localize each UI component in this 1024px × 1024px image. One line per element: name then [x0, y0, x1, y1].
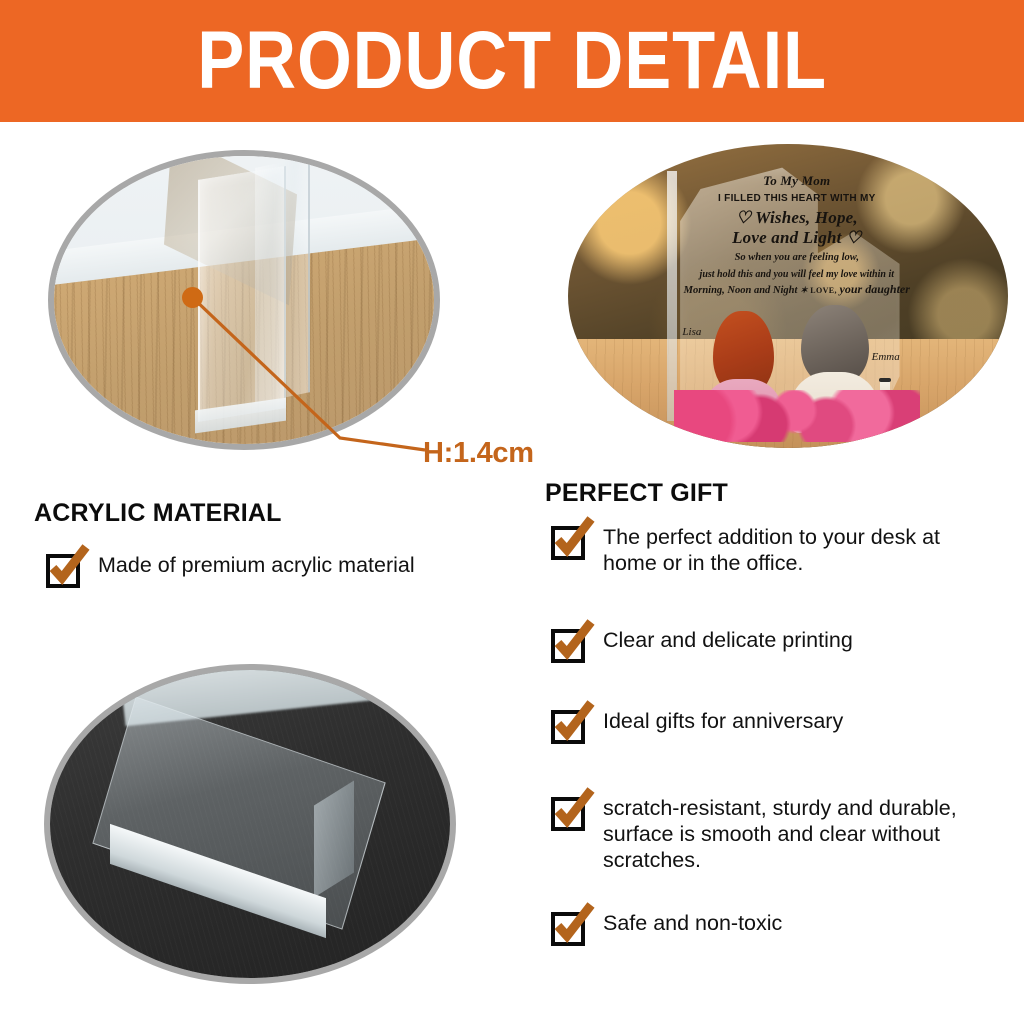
checklist-item: Made of premium acrylic material: [46, 552, 516, 588]
checkbox-checked-icon: [551, 526, 585, 560]
dimension-label-height: H:1.4cm: [423, 437, 534, 470]
section-heading-perfect-gift: PERFECT GIFT: [545, 479, 728, 508]
plaque-line-filled: I FILLED THIS HEART WITH MY: [682, 193, 911, 204]
checklist-item-label: Safe and non-toxic: [603, 910, 782, 936]
plaque-left-rim: [667, 171, 677, 420]
page-title: PRODUCT DETAIL: [197, 20, 827, 102]
checkbox-checked-icon: [551, 629, 585, 663]
checklist-item-label: Clear and delicate printing: [603, 627, 853, 653]
checklist-item: scratch-resistant, sturdy and durable, s…: [551, 795, 1001, 874]
checkmark-icon: [46, 544, 92, 590]
checkbox-checked-icon: [551, 912, 585, 946]
checkmark-icon: [551, 787, 597, 833]
plaque-line-feeling-low: So when you are feeling low,: [682, 252, 911, 264]
plaque-line-signature: Morning, Noon and Night ✶ LOVE, your dau…: [682, 283, 911, 297]
wood-floor-scene: [54, 156, 434, 444]
star-icon: ✶: [800, 285, 808, 295]
section-heading-acrylic-material: ACRYLIC MATERIAL: [34, 499, 282, 528]
checklist-item: The perfect addition to your desk at hom…: [551, 524, 991, 576]
checklist-item: Ideal gifts for anniversary: [551, 708, 991, 744]
plaque-sign-love: LOVE,: [810, 286, 837, 295]
checklist-item-label: The perfect addition to your desk at hom…: [603, 524, 991, 576]
checkmark-icon: [551, 902, 597, 948]
checkbox-checked-icon: [46, 554, 80, 588]
plaque-engraved-text: To My Mom I FILLED THIS HEART WITH MY ♡ …: [682, 174, 911, 296]
checklist-item-label: scratch-resistant, sturdy and durable, s…: [603, 795, 1001, 874]
plaque-line-love-light: Love and Light ♡: [682, 228, 911, 247]
checkmark-icon: [551, 700, 597, 746]
carnation-flowers: [674, 390, 920, 442]
bokeh-background: To My Mom I FILLED THIS HEART WITH MY ♡ …: [568, 144, 1008, 448]
acrylic-block-edge-photo: [48, 150, 440, 450]
checkmark-icon: [551, 516, 597, 562]
checkmark-icon: [551, 619, 597, 665]
checkbox-checked-icon: [551, 710, 585, 744]
acrylic-block-flat-photo: [44, 664, 456, 984]
plaque-sign-daughter: your daughter: [840, 282, 910, 296]
plaque-line-hold-this: just hold this and you will feel my love…: [682, 269, 911, 280]
checkbox-checked-icon: [551, 797, 585, 831]
product-plaque-photo: To My Mom I FILLED THIS HEART WITH MY ♡ …: [568, 144, 1008, 448]
checklist-item-label: Ideal gifts for anniversary: [603, 708, 843, 734]
plaque-name-left: Lisa: [682, 326, 701, 338]
plaque-line-wishes-hope: ♡ Wishes, Hope,: [682, 208, 911, 227]
checklist-item-label: Made of premium acrylic material: [98, 552, 415, 578]
plaque-sign-morning: Morning, Noon and Night: [684, 285, 798, 296]
checklist-item: Safe and non-toxic: [551, 910, 991, 946]
callout-dot-icon: [182, 287, 203, 308]
slate-background: [50, 670, 450, 978]
product-detail-page: PRODUCT DETAIL H:1.4cm To My Mom I FILLE…: [0, 0, 1024, 1024]
block-front-face: [198, 166, 286, 422]
header-banner: PRODUCT DETAIL: [0, 0, 1024, 122]
plaque-name-right: Emma: [872, 351, 900, 363]
checklist-item: Clear and delicate printing: [551, 627, 991, 663]
plaque-line-to-mom: To My Mom: [682, 174, 911, 189]
